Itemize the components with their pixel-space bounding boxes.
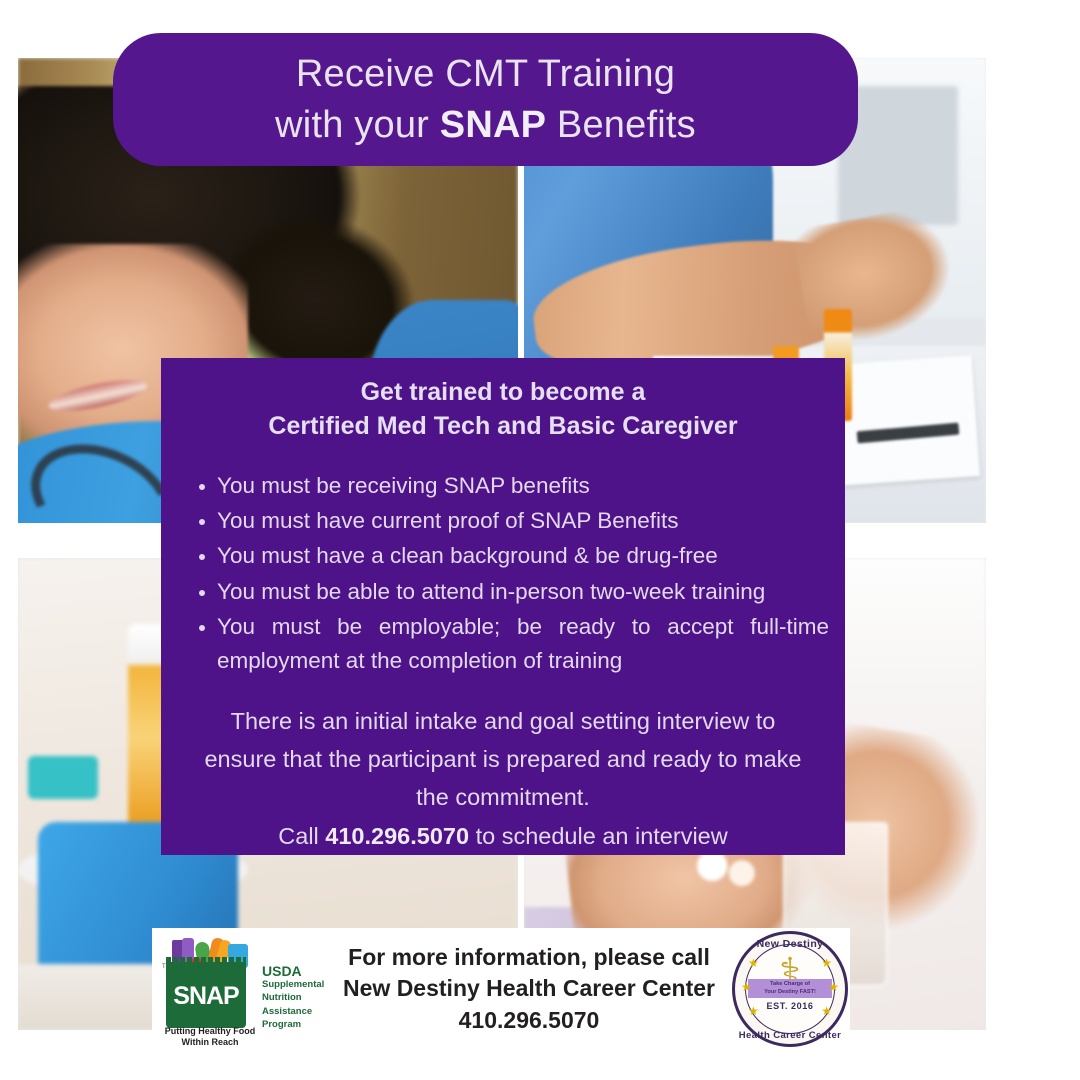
star-icon: ★ xyxy=(741,981,752,993)
list-item: You must be employable; be ready to acce… xyxy=(193,610,835,678)
header-line-2-prefix: with your xyxy=(275,104,440,146)
footer-contact-text: For more information, please call New De… xyxy=(326,942,732,1036)
seal-ribbon-line-1: Take Charge of xyxy=(770,981,810,988)
footer-bar: TM SNAP Putting Healthy Food Within Reac… xyxy=(152,928,850,1050)
star-icon: ★ xyxy=(748,957,759,969)
star-icon: ★ xyxy=(748,1005,759,1017)
seal-ribbon: Take Charge of Your Destiny FAST! xyxy=(748,979,832,998)
usda-program-line-4: Program xyxy=(262,1018,326,1031)
content-heading-line-1: Get trained to become a xyxy=(187,376,819,410)
footer-line-1: For more information, please call xyxy=(330,942,728,973)
list-item: You must be able to attend in-person two… xyxy=(193,575,835,609)
content-panel: Get trained to become a Certified Med Te… xyxy=(161,358,845,855)
call-to-action: Call 410.296.5070 to schedule an intervi… xyxy=(185,818,821,856)
snap-tagline: Putting Healthy Food Within Reach xyxy=(158,1026,262,1048)
snap-trademark: TM xyxy=(162,964,171,970)
content-heading: Get trained to become a Certified Med Te… xyxy=(161,358,845,443)
list-item: You must have a clean background & be dr… xyxy=(193,539,835,573)
header-snap-emphasis: SNAP xyxy=(440,104,546,146)
list-item: You must have current proof of SNAP Bene… xyxy=(193,504,835,538)
footer-line-3[interactable]: 410.296.5070 xyxy=(330,1005,728,1036)
usda-program-line-3: Assistance xyxy=(262,1005,326,1018)
requirements-list: You must be receiving SNAP benefits You … xyxy=(161,469,845,678)
usda-title: USDA xyxy=(262,964,326,978)
usda-program-line-2: Nutrition xyxy=(262,991,326,1004)
new-destiny-seal-logo: New Destiny ⚕ Take Charge of Your Destin… xyxy=(732,931,848,1047)
star-icon: ★ xyxy=(821,1005,832,1017)
usda-program-block: USDA Supplemental Nutrition Assistance P… xyxy=(262,964,326,1032)
content-heading-line-2: Certified Med Tech and Basic Caregiver xyxy=(187,410,819,444)
footer-line-2: New Destiny Health Career Center xyxy=(330,973,728,1004)
intake-paragraph: There is an initial intake and goal sett… xyxy=(195,702,811,816)
header-line-2: with your SNAP Benefits xyxy=(275,105,696,145)
snap-tagline-line-1: Putting Healthy Food xyxy=(158,1026,262,1037)
call-suffix: to schedule an interview xyxy=(469,823,728,849)
snap-logo: TM SNAP Putting Healthy Food Within Reac… xyxy=(158,934,326,1044)
star-icon: ★ xyxy=(821,957,832,969)
snap-tagline-line-2: Within Reach xyxy=(158,1037,262,1048)
snap-wordmark: SNAP xyxy=(166,982,246,1011)
list-item: You must be receiving SNAP benefits xyxy=(193,469,835,503)
seal-arc-bottom-text: Health Career Center xyxy=(732,1030,848,1041)
seal-arc-top-text: New Destiny xyxy=(732,938,848,950)
star-icon: ★ xyxy=(828,981,839,993)
call-prefix: Call xyxy=(278,823,325,849)
header-banner: Receive CMT Training with your SNAP Bene… xyxy=(113,33,858,166)
seal-ribbon-line-2: Your Destiny FAST! xyxy=(764,989,816,996)
header-line-1: Receive CMT Training xyxy=(296,54,675,94)
usda-program-line-1: Supplemental xyxy=(262,978,326,991)
flyer-canvas: Receive CMT Training with your SNAP Bene… xyxy=(0,0,1080,1080)
header-line-2-suffix: Benefits xyxy=(546,104,696,146)
phone-number[interactable]: 410.296.5070 xyxy=(325,823,469,849)
